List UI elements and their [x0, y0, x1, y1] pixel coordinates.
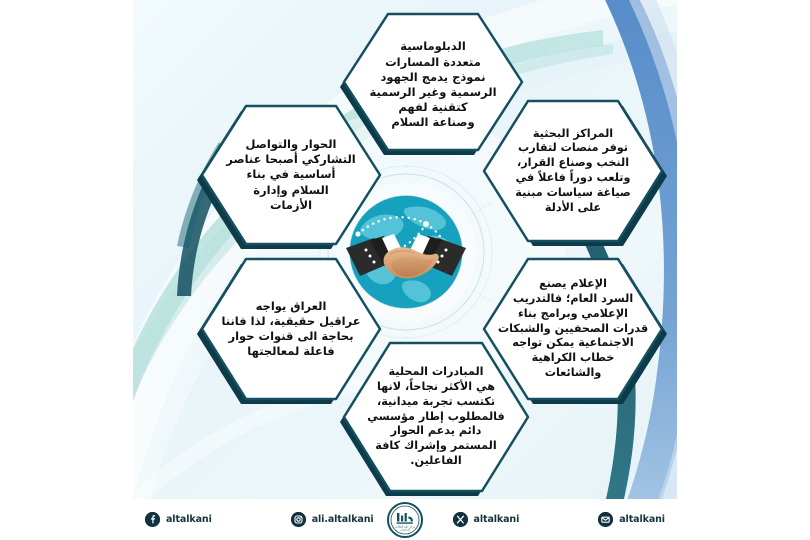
hexagon-shape — [478, 95, 668, 247]
card-iraq-obstacles[interactable]: العراق يواجه عراقيل حقيقية، لذا فاننا بح… — [196, 253, 386, 405]
card-research-centers[interactable]: المراكز البحثية توفر منصات لتقارب النخب … — [478, 95, 668, 247]
social-facebook[interactable]: altalkani — [145, 512, 212, 527]
social-footer: altalkani ali.altalkani — [133, 499, 677, 540]
email-icon — [598, 512, 613, 527]
facebook-handle: altalkani — [166, 514, 212, 525]
social-x-twitter[interactable]: altalkani — [453, 512, 520, 527]
hexagon-shape — [196, 253, 386, 405]
x-twitter-icon — [453, 512, 468, 527]
facebook-icon — [145, 512, 160, 527]
social-instagram[interactable]: ali.altalkani — [291, 512, 374, 527]
card-participatory-dialogue[interactable]: الحوار والتواصل التشاركي أصبحا عناصر أسا… — [196, 100, 386, 250]
infographic-root: الدبلوماسية متعددة المسارات نموذج يدمج ا… — [0, 0, 810, 540]
instagram-icon — [291, 512, 306, 527]
x-twitter-handle: altalkani — [474, 514, 520, 525]
svg-text:للدراسات: للدراسات — [400, 528, 410, 531]
instagram-handle: ali.altalkani — [312, 514, 374, 525]
infographic-canvas: الدبلوماسية متعددة المسارات نموذج يدمج ا… — [133, 0, 677, 540]
social-email[interactable]: altalkani — [598, 512, 665, 527]
brand-logo[interactable]: مركز علي التلكاني للدراسات — [387, 502, 423, 538]
email-handle: altalkani — [619, 514, 665, 525]
hexagon-shape — [196, 100, 386, 250]
